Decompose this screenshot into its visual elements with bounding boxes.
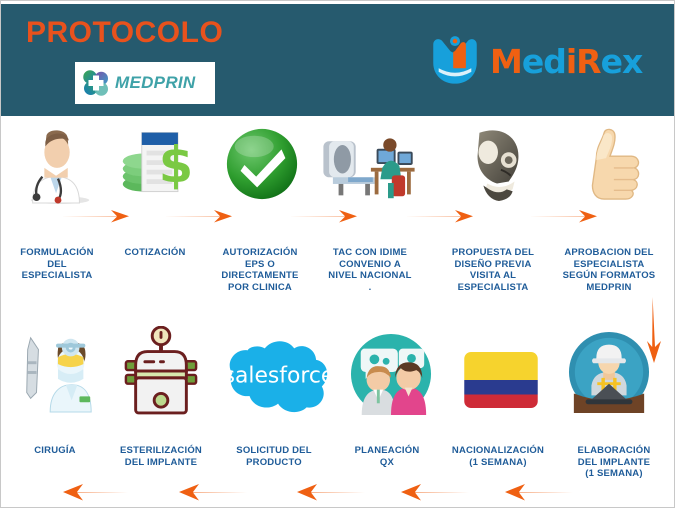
step-esterilizacion-icon[interactable] [113,331,209,413]
arrow-left-icon [297,483,365,501]
surgeon-scalpel-icon [7,331,107,413]
step-label-cirugia: CIRUGÍA [3,445,107,457]
arrow-left-icon [179,483,247,501]
step-elaboracion-icon[interactable] [557,331,661,413]
ct-scanner-icon [317,123,421,205]
step-label-aprobacion: APROBACION DEL ESPECIALISTA SEGÚN FORMAT… [549,247,669,293]
people-planning-icon [341,333,441,415]
salesforce-cloud-icon: salesforce [215,335,343,417]
step-label-cotizacion: COTIZACIÓN [107,247,203,259]
page-title: PROTOCOLO [26,16,223,50]
medprin-logo: MEDPRIN [75,62,215,104]
header-banner: PROTOCOLO [1,4,675,116]
step-label-nacionalizacion: NACIONALIZACIÓN (1 SEMANA) [439,445,557,468]
step-tac-icon[interactable] [317,123,421,205]
doctor-icon [9,123,107,205]
colombia-flag-icon [449,339,553,421]
salesforce-wordmark: salesforce [224,364,335,389]
medirex-mark-icon [426,32,484,90]
flow-row-2-arrows [1,483,675,505]
step-label-elaboracion: ELABORACIÓN DEL IMPLANTE (1 SEMANA) [557,445,671,480]
medprin-wordmark: MEDPRIN [115,73,196,93]
arrow-right-icon [529,209,597,223]
step-propuesta-icon[interactable] [445,123,549,205]
step-label-formulacion: FORMULACIÓN DEL ESPECIALISTA [3,247,111,282]
arrow-right-icon [164,209,232,223]
medprin-cross-icon [81,68,111,98]
invoice-money-icon: $ [111,123,203,205]
flow-row-2-icons: salesforce [1,331,675,431]
step-planeacion-icon[interactable] [341,333,441,415]
step-label-esterilizacion: ESTERILIZACIÓN DEL IMPLANTE [105,445,217,468]
thumbs-up-icon [557,123,661,205]
step-label-planeacion: PLANEACIÓN QX [335,445,439,468]
skull-icon [445,123,549,205]
step-label-solicitud: SOLICITUD DEL PRODUCTO [219,445,329,468]
step-solicitud-icon[interactable]: salesforce [215,335,343,417]
step-label-tac: TAC CON IDIME CONVENIO A NIVEL NACIONAL … [315,247,425,293]
arrow-left-icon [63,483,131,501]
arrow-left-icon [401,483,469,501]
arrow-left-icon [505,483,573,501]
arrow-right-icon [289,209,357,223]
green-check-icon [213,123,311,205]
step-label-propuesta: PROPUESTA DEL DISEÑO PREVIA VISITA AL ES… [437,247,549,293]
step-autorizacion-icon[interactable] [213,123,311,205]
medirex-wordmark: MediRex [490,42,642,81]
flow-row-1-labels: FORMULACIÓN DEL ESPECIALISTA COTIZACIÓN … [1,243,675,303]
step-formulacion-icon[interactable] [9,123,107,205]
step-cirugia-icon[interactable] [7,331,107,413]
step-nacionalizacion-icon[interactable] [449,339,553,421]
step-aprobacion-icon[interactable] [557,123,661,205]
svg-text:$: $ [159,136,193,194]
worker-laptop-icon [557,331,661,413]
flow-row-1-arrows [1,209,675,229]
autoclave-icon [113,331,209,413]
step-cotizacion-icon[interactable]: $ [111,123,203,205]
protocol-flow-slide: PROTOCOLO [0,0,675,508]
arrow-right-icon [61,209,129,223]
arrow-right-icon [405,209,473,223]
medirex-logo: MediRex [426,32,642,90]
step-label-autorizacion: AUTORIZACIÓN EPS O DIRECTAMENTE POR CLIN… [205,247,315,293]
